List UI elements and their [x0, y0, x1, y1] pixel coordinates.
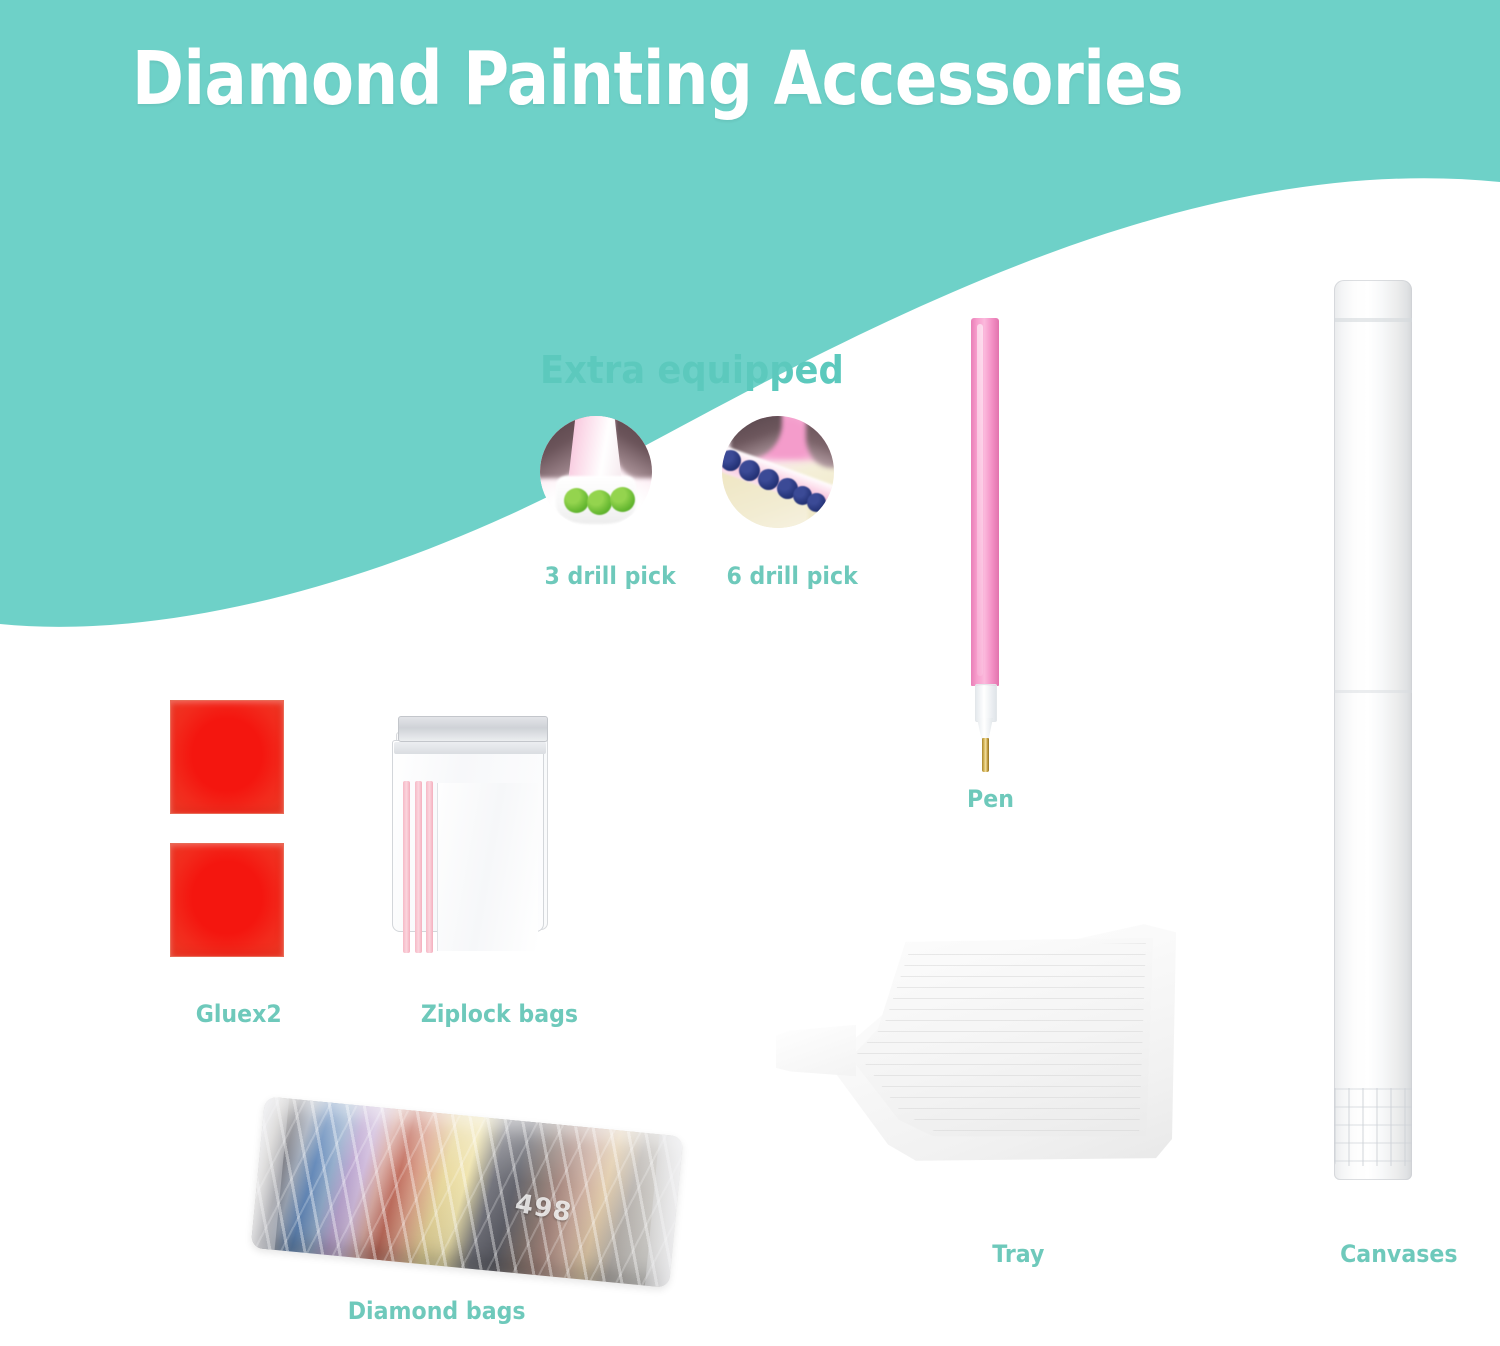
- ziplock-pink-stripe: [426, 781, 433, 953]
- plastic-wrap-overlay: [251, 1096, 684, 1288]
- caption-glue: Gluex2: [196, 1000, 282, 1028]
- pen-barrel: [971, 318, 999, 686]
- drill-pick-6-photo: [722, 416, 834, 528]
- diamond-bags-icon: 498: [250, 1086, 690, 1306]
- tube-crinkled-end: [1334, 1088, 1412, 1166]
- caption-tray: Tray: [992, 1240, 1044, 1268]
- caption-diamond-bags: Diamond bags: [348, 1297, 526, 1325]
- canvas-roll-icon: [1334, 280, 1412, 1180]
- drill-bead: [758, 469, 779, 490]
- ziplock-zip-strip: [398, 716, 548, 742]
- drill-pick-3-photo: [540, 416, 652, 528]
- caption-ziplock-bags: Ziplock bags: [421, 1000, 578, 1028]
- glue-square-icon: [170, 843, 284, 957]
- page-title: Diamond Painting Accessories: [132, 36, 1166, 122]
- glue-square-icon: [170, 700, 284, 814]
- drill-bead: [610, 487, 635, 512]
- tube-mid-seam: [1334, 690, 1412, 693]
- ziplock-pink-stripe: [415, 781, 422, 953]
- ziplock-bag-icon: [392, 716, 550, 930]
- drill-bead: [564, 488, 589, 513]
- pen-clear-collar: [975, 684, 997, 722]
- ziplock-pink-stripe: [403, 781, 410, 953]
- ziplock-inner-panel: [437, 783, 538, 951]
- caption-canvases: Canvases: [1340, 1240, 1457, 1268]
- drill-bead: [739, 460, 760, 481]
- infographic-canvas: Diamond Painting Accessories Extra equip…: [0, 0, 1500, 1346]
- pen-metal-tip: [982, 738, 989, 772]
- caption-3-drill-pick: 3 drill pick: [544, 562, 647, 590]
- caption-pen: Pen: [967, 785, 1014, 813]
- caption-6-drill-pick: 6 drill pick: [726, 562, 829, 590]
- extra-equipped-heading: Extra equipped: [540, 348, 844, 392]
- ziplock-seal-line: [394, 742, 546, 754]
- drill-bead: [807, 493, 826, 512]
- drill-pen-icon: [962, 318, 1008, 752]
- tube-top-seam: [1334, 318, 1412, 322]
- drill-bead: [587, 490, 612, 515]
- diamond-bundle: 498: [251, 1096, 684, 1288]
- drill-tray-icon: [776, 916, 1176, 1188]
- ziplock-front-bag: [392, 740, 544, 932]
